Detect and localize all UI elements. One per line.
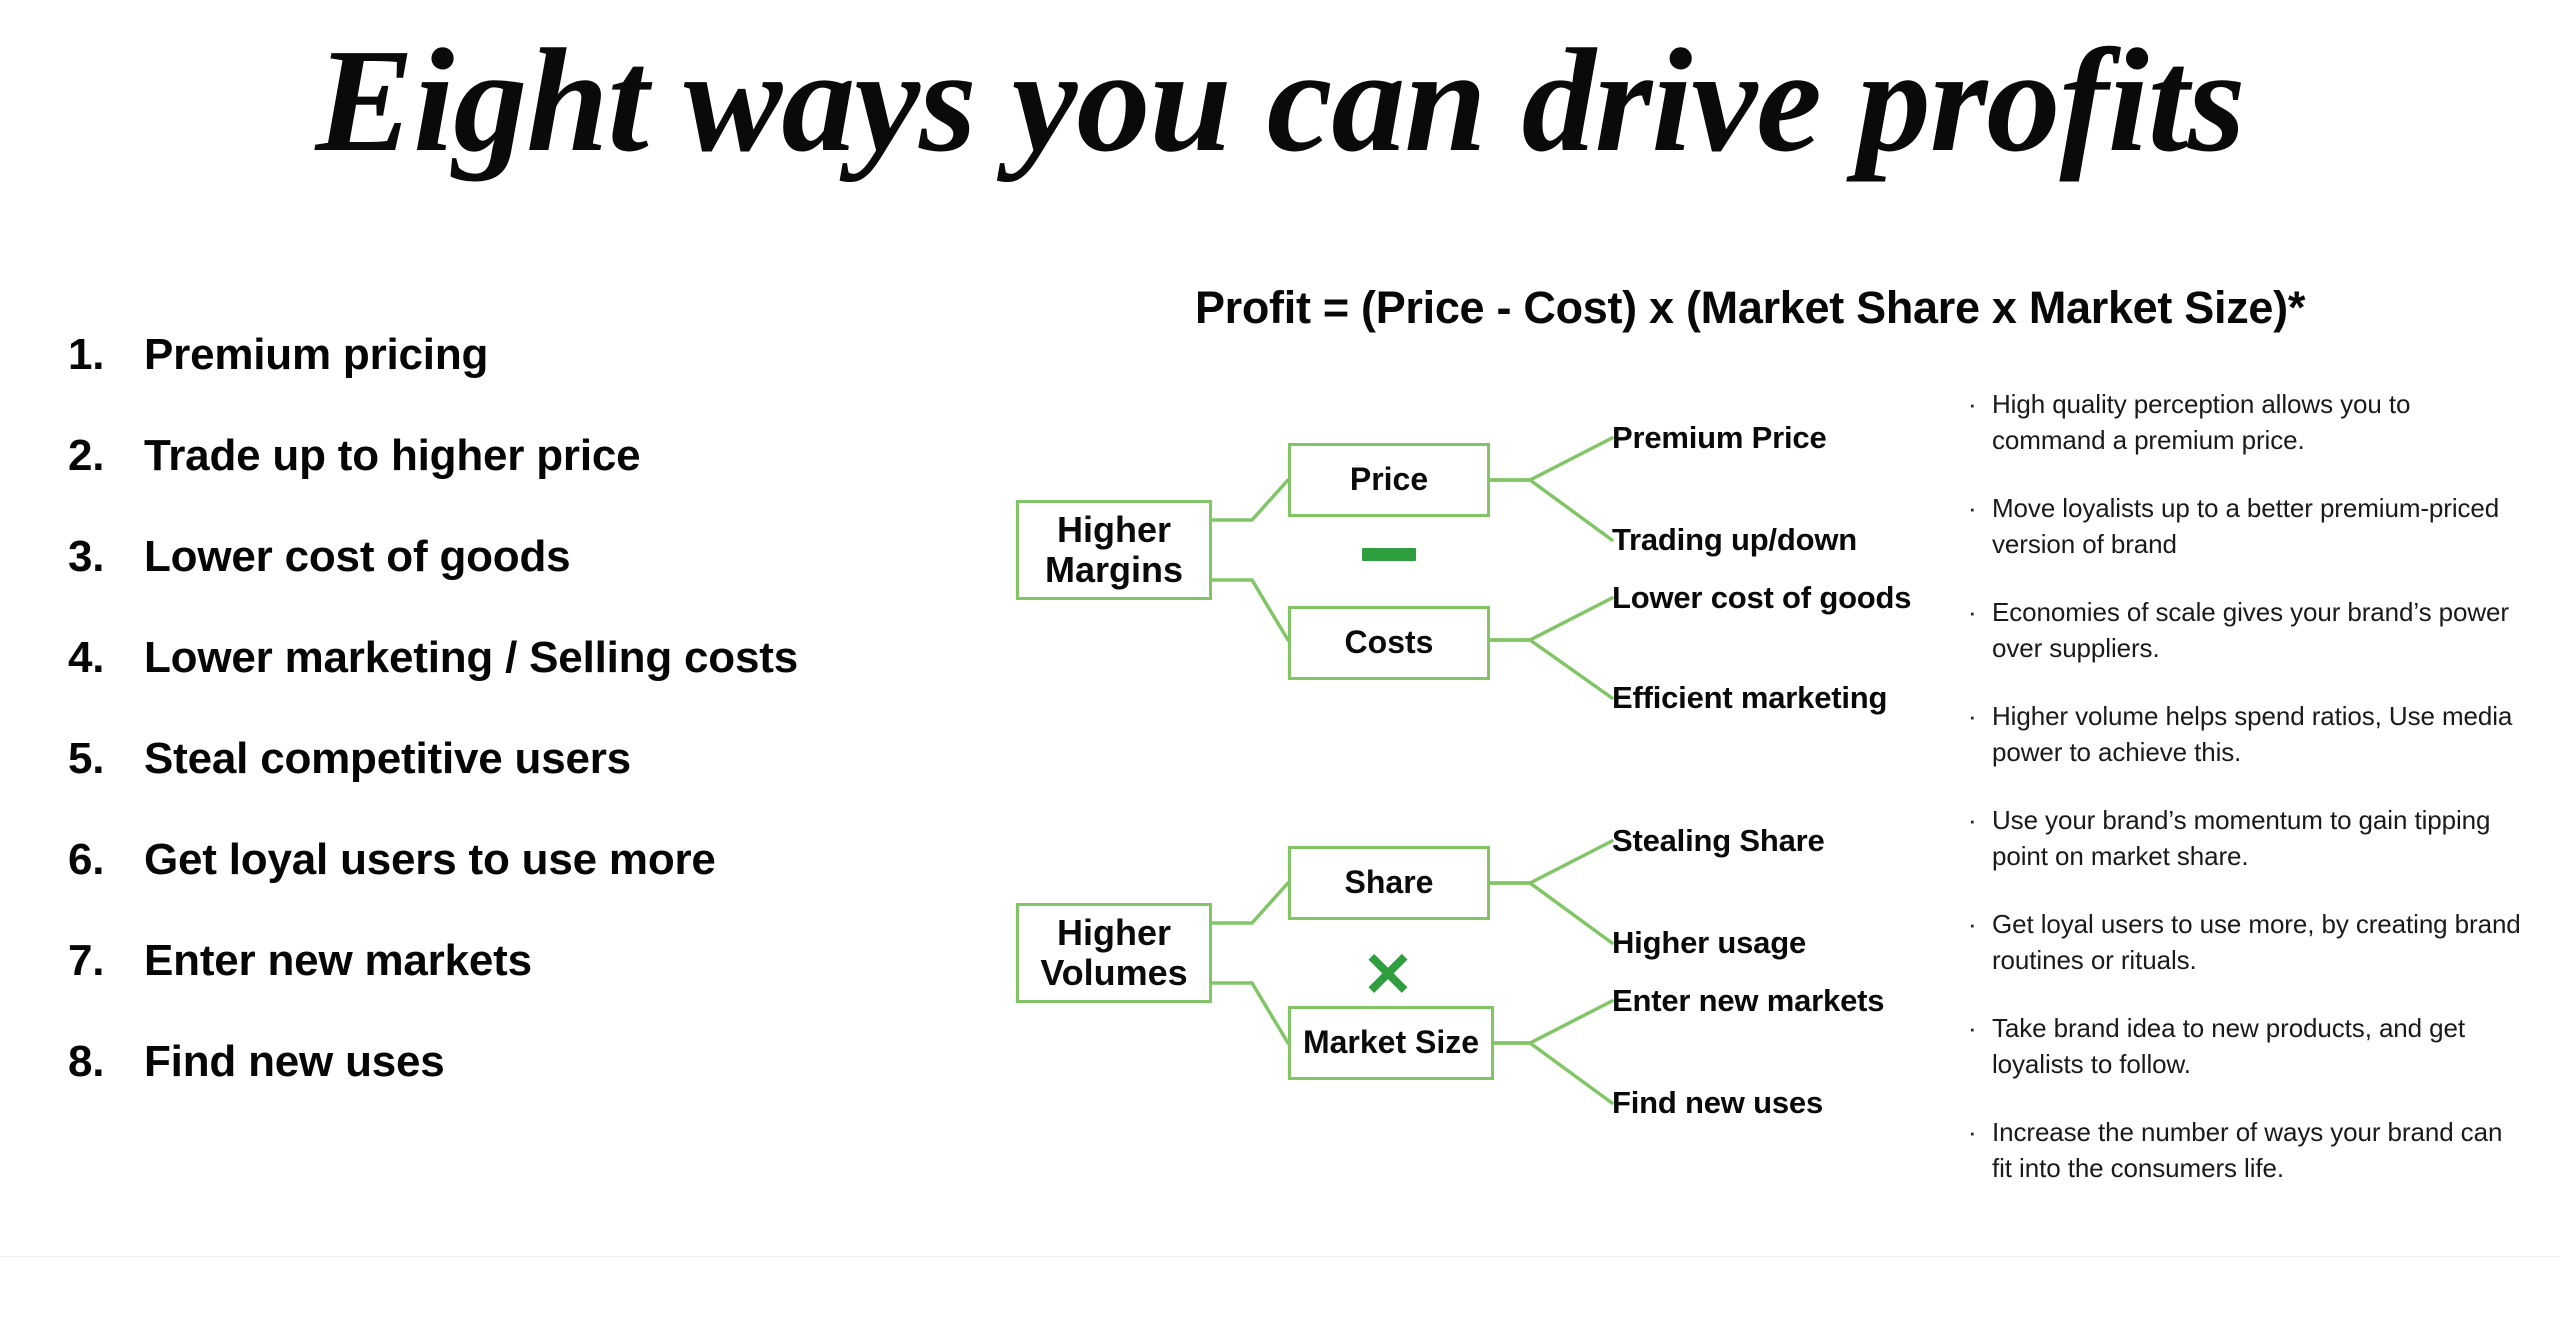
explanation-item: · Higher volume helps spend ratios, Use …	[1968, 698, 2528, 770]
explanation-text: Higher volume helps spend ratios, Use me…	[1992, 698, 2528, 770]
explanation-item: · Move loyalists up to a better premium-…	[1968, 490, 2528, 562]
explanation-text: Increase the number of ways your brand c…	[1992, 1114, 2528, 1186]
explanation-text: Take brand idea to new products, and get…	[1992, 1010, 2528, 1082]
list-item: 6. Get loyal users to use more	[68, 835, 1068, 936]
list-item-number: 1.	[68, 330, 144, 380]
list-item-label: Find new uses	[144, 1037, 1068, 1087]
list-item: 8. Find new uses	[68, 1037, 1068, 1138]
list-item: 7. Enter new markets	[68, 936, 1068, 1037]
list-item-label: Enter new markets	[144, 936, 1068, 986]
branch-label-find-new-uses: Find new uses	[1612, 1085, 1823, 1121]
minus-operator-icon	[1362, 548, 1416, 561]
node-costs[interactable]: Costs	[1288, 606, 1490, 680]
list-item-label: Premium pricing	[144, 330, 1068, 380]
explanation-item: · High quality perception allows you to …	[1968, 386, 2528, 458]
list-item-number: 3.	[68, 532, 144, 582]
explanation-item: · Take brand idea to new products, and g…	[1968, 1010, 2528, 1082]
bullet-icon: ·	[1968, 1010, 1992, 1046]
list-item-label: Lower marketing / Selling costs	[144, 633, 1068, 683]
node-higher-volumes[interactable]: Higher Volumes	[1016, 903, 1212, 1003]
bullet-icon: ·	[1968, 490, 1992, 526]
node-market-size[interactable]: Market Size	[1288, 1006, 1494, 1080]
list-item-label: Get loyal users to use more	[144, 835, 1068, 885]
list-item-number: 6.	[68, 835, 144, 885]
list-item-number: 5.	[68, 734, 144, 784]
bullet-icon: ·	[1968, 698, 1992, 734]
profit-formula: Profit = (Price - Cost) x (Market Share …	[1020, 282, 2480, 334]
bullet-icon: ·	[1968, 386, 1992, 422]
list-item-label: Lower cost of goods	[144, 532, 1068, 582]
list-item-label: Steal competitive users	[144, 734, 1068, 784]
node-share[interactable]: Share	[1288, 846, 1490, 920]
branch-label-stealing-share: Stealing Share	[1612, 823, 1825, 859]
multiply-operator-icon: ✕	[1352, 948, 1424, 1004]
list-item-number: 4.	[68, 633, 144, 683]
bullet-icon: ·	[1968, 1114, 1992, 1150]
branch-label-enter-new-markets: Enter new markets	[1612, 983, 1884, 1019]
node-higher-volumes-label: Higher Volumes	[1040, 913, 1187, 994]
bullet-icon: ·	[1968, 906, 1992, 942]
list-item: 2. Trade up to higher price	[68, 431, 1068, 532]
explanation-item: · Get loyal users to use more, by creati…	[1968, 906, 2528, 978]
explanation-item: · Use your brand’s momentum to gain tipp…	[1968, 802, 2528, 874]
strategy-list: 1. Premium pricing 2. Trade up to higher…	[68, 330, 1068, 1138]
branch-label-trading-up-down: Trading up/down	[1612, 522, 1857, 558]
node-higher-margins-label: Higher Margins	[1045, 510, 1183, 591]
list-item: 5. Steal competitive users	[68, 734, 1068, 835]
bullet-icon: ·	[1968, 802, 1992, 838]
explanation-text: Move loyalists up to a better premium-pr…	[1992, 490, 2528, 562]
explanation-text: Get loyal users to use more, by creating…	[1992, 906, 2528, 978]
branch-label-higher-usage: Higher usage	[1612, 925, 1806, 961]
branch-label-premium-price: Premium Price	[1612, 420, 1827, 456]
list-item-number: 2.	[68, 431, 144, 481]
explanation-item: · Increase the number of ways your brand…	[1968, 1114, 2528, 1186]
list-item: 4. Lower marketing / Selling costs	[68, 633, 1068, 734]
list-item-number: 7.	[68, 936, 144, 986]
bottom-divider	[0, 1256, 2560, 1257]
profit-tree-diagram: Higher Margins Higher Volumes Price Cost…	[1000, 370, 1980, 1170]
branch-label-lower-cost-of-goods: Lower cost of goods	[1612, 580, 1911, 616]
bullet-icon: ·	[1968, 594, 1992, 630]
explanation-text: Economies of scale gives your brand’s po…	[1992, 594, 2528, 666]
explanation-text: High quality perception allows you to co…	[1992, 386, 2528, 458]
explanation-item: · Economies of scale gives your brand’s …	[1968, 594, 2528, 666]
list-item: 3. Lower cost of goods	[68, 532, 1068, 633]
branch-label-efficient-marketing: Efficient marketing	[1612, 680, 1887, 716]
explanation-text: Use your brand’s momentum to gain tippin…	[1992, 802, 2528, 874]
node-higher-margins[interactable]: Higher Margins	[1016, 500, 1212, 600]
list-item: 1. Premium pricing	[68, 330, 1068, 431]
page-title: Eight ways you can drive profits	[0, 24, 2560, 179]
list-item-number: 8.	[68, 1037, 144, 1087]
node-price[interactable]: Price	[1288, 443, 1490, 517]
list-item-label: Trade up to higher price	[144, 431, 1068, 481]
